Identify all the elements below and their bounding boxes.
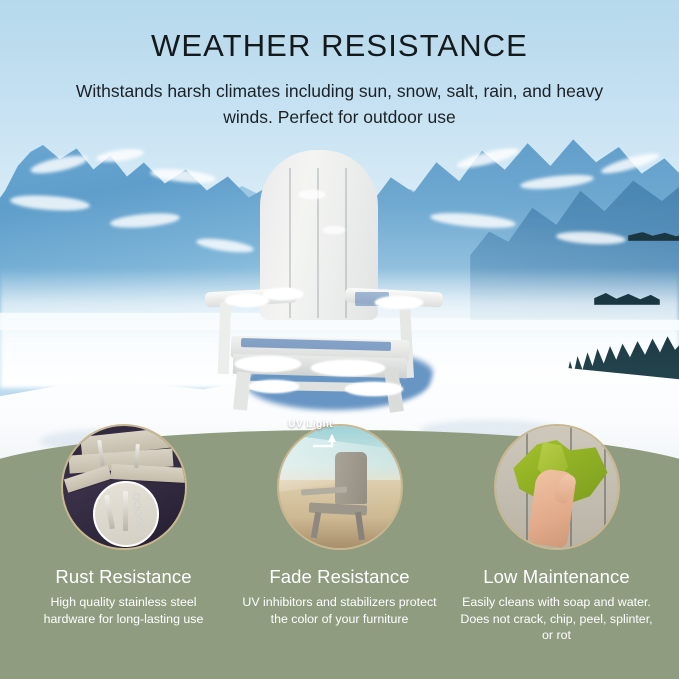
feature-rust-resistance: Rust Resistance High quality stainless s… <box>18 424 229 627</box>
weather-resistance-infographic: WEATHER RESISTANCE Withstands harsh clim… <box>0 0 679 679</box>
uv-light-arrow-icon <box>312 432 346 452</box>
chain-link <box>134 501 141 508</box>
snow-on-chair <box>375 296 423 309</box>
hero-adirondack-chair <box>205 150 445 385</box>
snow-on-chair <box>311 360 385 376</box>
chain-link <box>137 525 144 532</box>
feature-low-maintenance: Low Maintenance Easily cleans with soap … <box>451 424 662 644</box>
feature-image-rust-resistance <box>61 424 187 550</box>
hardware-magnifier-inset <box>93 481 159 547</box>
screw-magnified <box>104 495 115 529</box>
snow-on-chair <box>249 380 299 393</box>
feature-title: Fade Resistance <box>234 566 445 588</box>
screw-magnified <box>123 491 128 531</box>
snow-on-chair <box>235 356 301 372</box>
feature-description: UV inhibitors and stabilizers protect th… <box>234 594 445 627</box>
feature-title: Low Maintenance <box>451 566 662 588</box>
chair-leg-front-left <box>218 302 232 374</box>
snow-on-chair <box>323 226 345 234</box>
feature-description: Easily cleans with soap and water. Does … <box>451 594 662 644</box>
grey-chair-back <box>335 452 367 504</box>
uv-light-label: UV Light <box>288 418 333 430</box>
snow-on-chair <box>263 288 303 300</box>
chain-link <box>133 493 140 500</box>
snow-on-chair <box>225 294 269 307</box>
feature-fade-resistance: Fade Resistance UV inhibitors and stabil… <box>234 424 445 627</box>
snow-on-chair <box>345 382 403 396</box>
board-seam <box>604 426 606 548</box>
chain-link <box>135 509 142 516</box>
page-subtitle: Withstands harsh climates including sun,… <box>50 78 629 130</box>
feature-description: High quality stainless steel hardware fo… <box>18 594 229 627</box>
snow-on-chair <box>299 190 325 199</box>
feature-list: Rust Resistance High quality stainless s… <box>0 424 679 679</box>
feature-title: Rust Resistance <box>18 566 229 588</box>
chain-link <box>136 517 143 524</box>
page-title: WEATHER RESISTANCE <box>0 28 679 64</box>
feature-image-low-maintenance <box>494 424 620 550</box>
